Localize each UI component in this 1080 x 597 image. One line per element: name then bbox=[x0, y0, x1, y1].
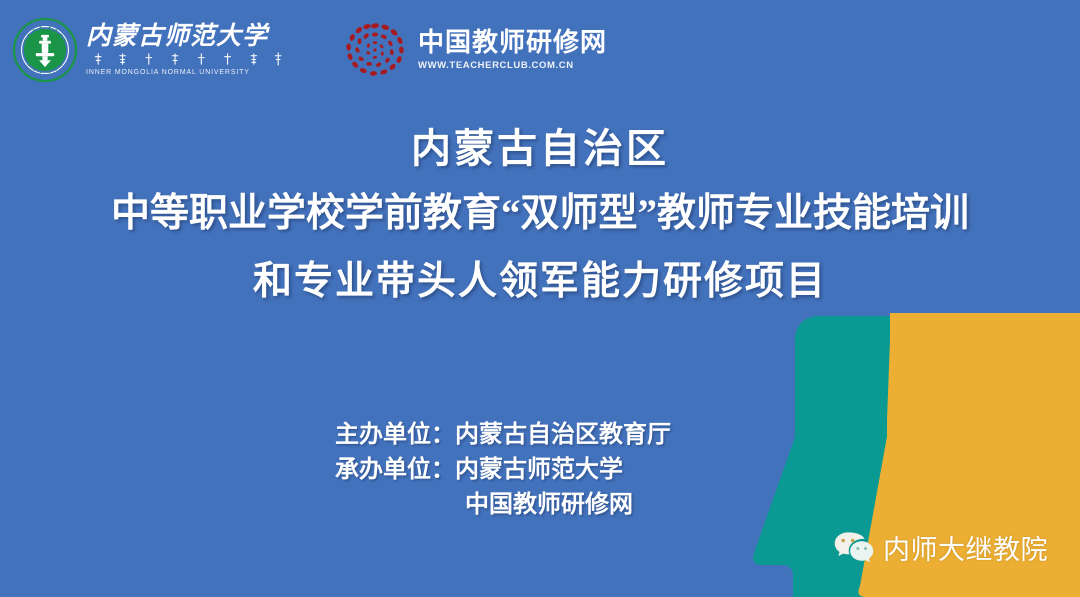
wechat-watermark: 内师大继教院 bbox=[833, 528, 1048, 567]
header-logo-bar: 内蒙古师范大学 INNER MONGOLIA NORMAL UNIVERSITY bbox=[0, 0, 1080, 100]
teacherclub-url: WWW.TEACHERCLUB.COM.CN bbox=[418, 60, 607, 71]
host-organization: 主办单位：内蒙古自治区教育厅 bbox=[335, 418, 805, 453]
teacherclub-name-cn: 中国教师研修网 bbox=[418, 29, 607, 58]
poster-slide: 内蒙古师范大学 INNER MONGOLIA NORMAL UNIVERSITY bbox=[0, 0, 1080, 597]
teacherclub-wordmark: 中国教师研修网 WWW.TEACHERCLUB.COM.CN bbox=[418, 29, 607, 72]
organizing-organization: 承办单位：内蒙古师范大学 bbox=[335, 453, 805, 488]
watermark-label: 内师大继教院 bbox=[883, 528, 1048, 567]
title-line-3: 和专业带头人领军能力研修项目 bbox=[0, 248, 1080, 316]
poster-title: 内蒙古自治区 中等职业学校学前教育“双师型”教师专业技能培训 和专业带头人领军能… bbox=[0, 118, 1080, 316]
university-name-mongolian-script bbox=[86, 52, 296, 67]
organizer-block: 主办单位：内蒙古自治区教育厅 承办单位：内蒙古师范大学 中国教师研修网 bbox=[335, 418, 805, 523]
teacherclub-spiral-dots-icon bbox=[338, 17, 412, 83]
university-wordmark: 内蒙古师范大学 INNER MONGOLIA NORMAL UNIVERSITY bbox=[86, 24, 296, 75]
university-seal-icon bbox=[12, 17, 78, 83]
university-name-en: INNER MONGOLIA NORMAL UNIVERSITY bbox=[86, 69, 294, 76]
title-line-1: 内蒙古自治区 bbox=[0, 118, 1080, 180]
wechat-icon bbox=[833, 530, 875, 566]
university-logo: 内蒙古师范大学 INNER MONGOLIA NORMAL UNIVERSITY bbox=[12, 17, 296, 83]
university-name-cn: 内蒙古师范大学 bbox=[86, 24, 296, 50]
title-line-2: 中等职业学校学前教育“双师型”教师专业技能培训 bbox=[0, 180, 1080, 248]
organizing-organization-2: 中国教师研修网 bbox=[335, 488, 805, 523]
teacherclub-logo: 中国教师研修网 WWW.TEACHERCLUB.COM.CN bbox=[338, 17, 607, 83]
